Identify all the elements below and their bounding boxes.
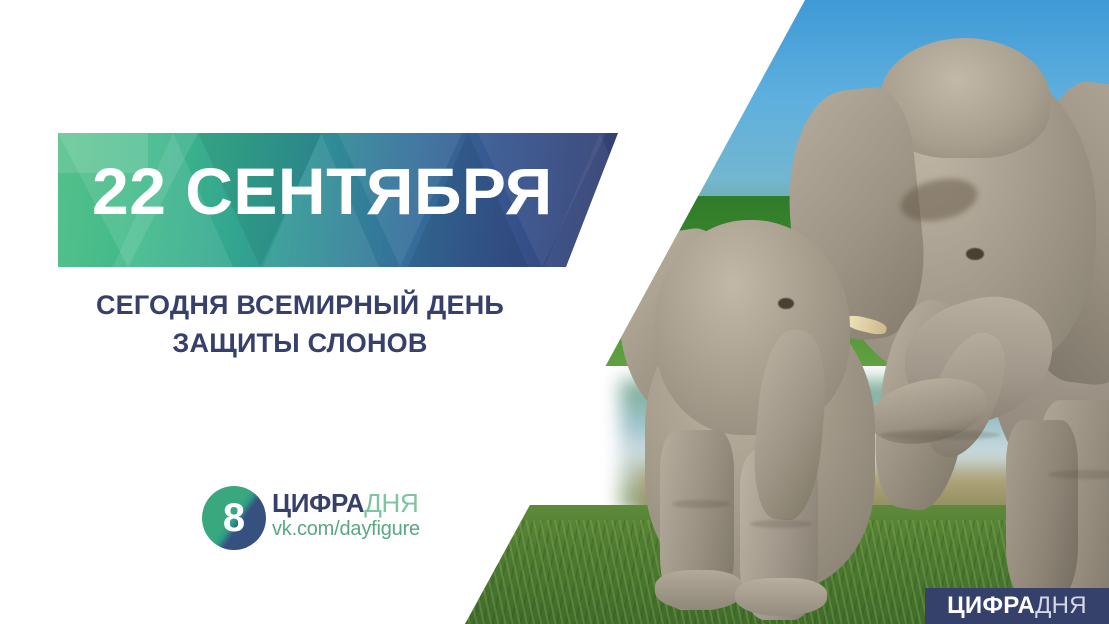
watermark-badge: ЦИФРАДНЯ	[925, 588, 1109, 624]
brand-logo[interactable]: 8 ЦИФРАДНЯ vk.com/dayfigure	[202, 484, 412, 554]
figure-eight-inner: 8	[208, 492, 260, 544]
watermark-text: ЦИФРАДНЯ	[947, 594, 1087, 618]
skin-wrinkle	[750, 520, 812, 528]
figure-eight-text: 8	[223, 498, 245, 538]
adult-elephant-hindleg	[1006, 420, 1078, 600]
brand-logo-text: ЦИФРАДНЯ vk.com/dayfigure	[272, 490, 420, 541]
subtitle-line-2: ЗАЩИТЫ СЛОНОВ	[60, 324, 540, 362]
subtitle-block: СЕГОДНЯ ВСЕМИРНЫЙ ДЕНЬ ЗАЩИТЫ СЛОНОВ	[60, 286, 540, 363]
calf-eye	[778, 298, 794, 309]
watermark-bold: ЦИФРА	[947, 592, 1035, 619]
poster-canvas: 22 СЕНТЯБРЯ СЕГОДНЯ ВСЕМИРНЫЙ ДЕНЬ ЗАЩИТ…	[0, 0, 1109, 624]
watermark-light: ДНЯ	[1035, 592, 1087, 619]
brand-name-bold: ЦИФРА	[272, 488, 364, 518]
skin-wrinkle	[880, 430, 1000, 440]
date-text: 22 СЕНТЯБРЯ	[92, 158, 553, 224]
figure-eight-badge-icon: 8	[202, 486, 266, 550]
calf-foot-left	[655, 570, 743, 610]
subtitle-line-1: СЕГОДНЯ ВСЕМИРНЫЙ ДЕНЬ	[60, 286, 540, 324]
brand-name: ЦИФРАДНЯ	[272, 490, 420, 517]
adult-elephant-eye	[966, 248, 984, 260]
calf-foot-right	[735, 578, 827, 616]
brand-name-light: ДНЯ	[364, 488, 418, 518]
facet-triangle	[544, 133, 618, 267]
brand-url[interactable]: vk.com/dayfigure	[272, 518, 420, 541]
skin-wrinkle	[672, 500, 730, 508]
